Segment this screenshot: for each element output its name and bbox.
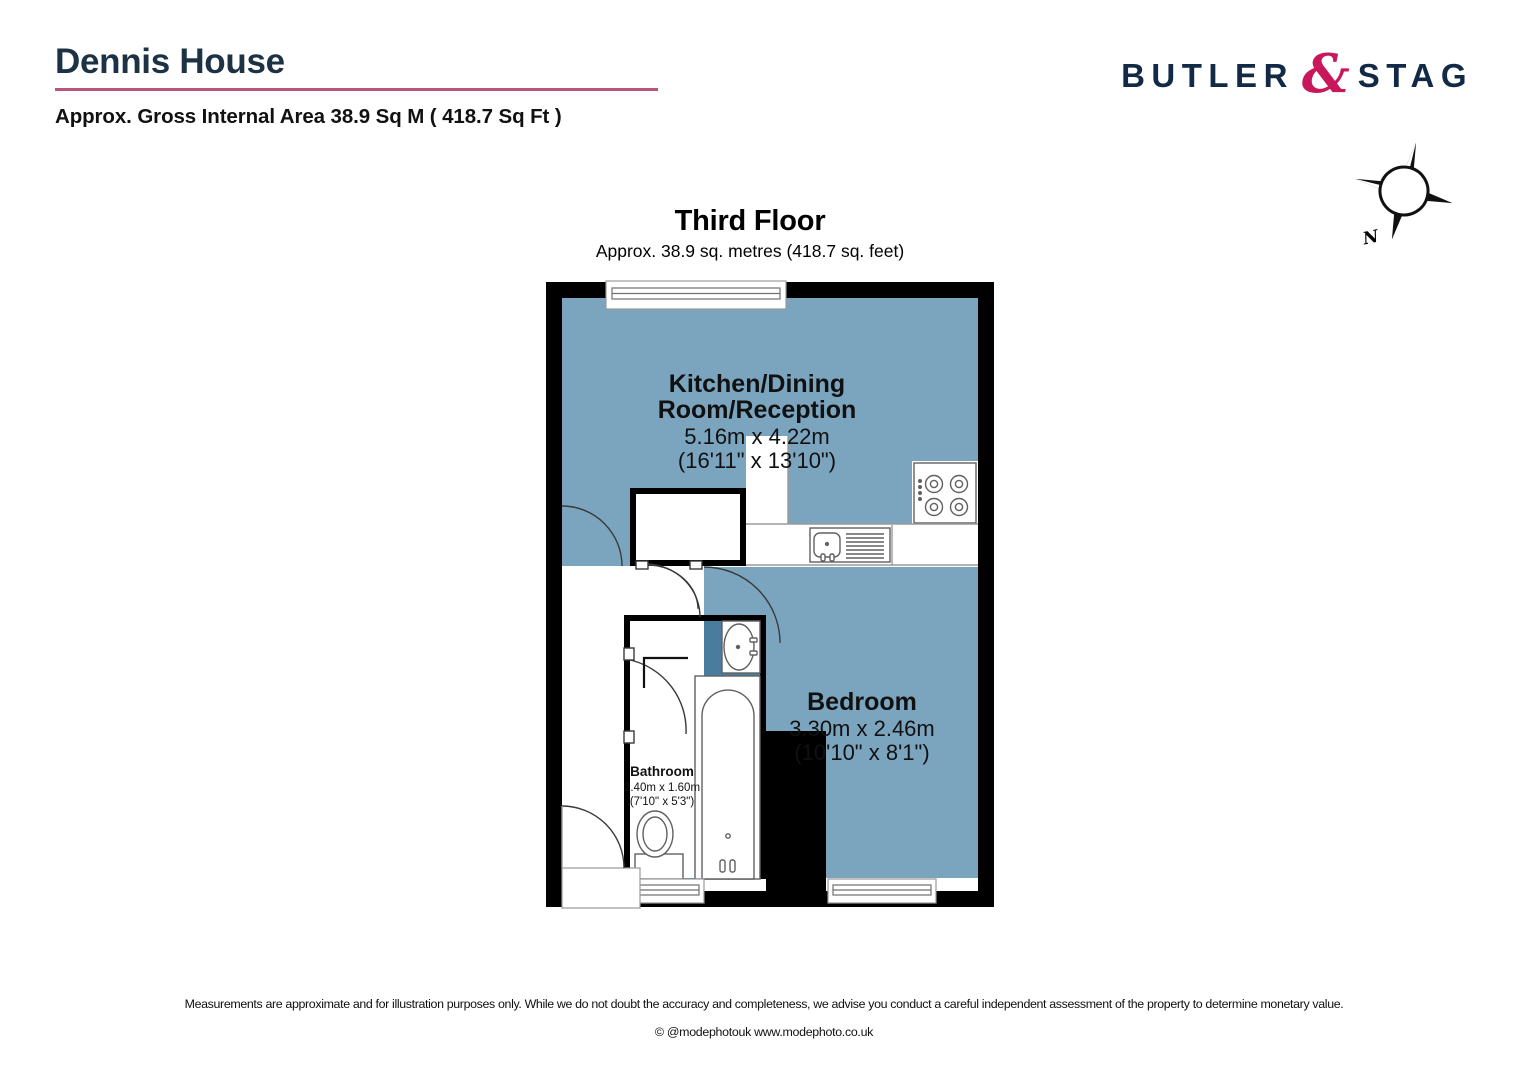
brand-ampersand-icon: & [1296,48,1356,101]
floor-name: Third Floor [500,204,1000,238]
compass-north-label: N [1361,227,1380,250]
room-dim-bedroom-metric: 3.30m x 2.46m [789,716,935,741]
cupboard-icon [636,494,740,566]
butler-and-stag-logo: BUTLER & STAG [1121,48,1473,104]
brand-word-butler: BUTLER [1121,57,1294,95]
room-dim-bathroom-metric: 2.40m x 1.60m [624,782,700,794]
title-underline-rule [55,88,658,91]
room-name-bedroom: Bedroom [807,688,917,716]
hob-icon [914,463,976,523]
bathtub-icon [695,676,760,879]
window-icon-bedroom [828,879,936,903]
disclaimer-text: Measurements are approximate and for ill… [0,995,1528,1013]
room-name-bathroom: Bathroom [630,764,694,779]
room-dim-kitchen-metric: 5.16m x 4.22m [684,424,830,449]
gross-internal-area-subtitle: Approx. Gross Internal Area 38.9 Sq M ( … [55,105,675,129]
floor-plan-svg: Kitchen/Dining Room/Reception 5.16m x 4.… [540,276,1000,926]
room-label-bathroom: Bathroom 2.40m x 1.60m (7'10" x 5'3") [624,764,700,808]
floor-area: Approx. 38.9 sq. metres (418.7 sq. feet) [500,240,1000,262]
page-header: Dennis House Approx. Gross Internal Area… [0,0,1528,150]
room-label-bedroom: Bedroom 3.30m x 2.46m (10'10" x 8'1") [789,688,935,765]
brand-word-stag: STAG [1358,57,1473,95]
page-footer: Measurements are approximate and for ill… [0,995,1528,1039]
copyright-text: © @modephotouk www.modephoto.co.uk [0,1025,1528,1039]
room-dim-bedroom-imperial: (10'10" x 8'1") [794,740,929,765]
room-label-kitchen: Kitchen/Dining Room/Reception 5.16m x 4.… [658,370,857,473]
sink-icon [810,528,890,562]
room-dim-bathroom-imperial: (7'10" x 5'3") [630,796,695,808]
page-title: Dennis House [55,40,675,84]
window-icon-bathroom [632,879,704,903]
floor-heading: Third Floor Approx. 38.9 sq. metres (418… [500,204,1000,262]
floor-plan: Kitchen/Dining Room/Reception 5.16m x 4.… [540,276,1000,926]
wash-basin-icon [722,621,760,673]
room-dim-kitchen-imperial: (16'11" x 13'10") [678,448,836,473]
room-name-kitchen-line2: Room/Reception [658,396,857,424]
room-name-kitchen-line1: Kitchen/Dining [669,370,845,398]
title-block: Dennis House Approx. Gross Internal Area… [55,40,675,129]
window-icon-north [606,281,786,309]
